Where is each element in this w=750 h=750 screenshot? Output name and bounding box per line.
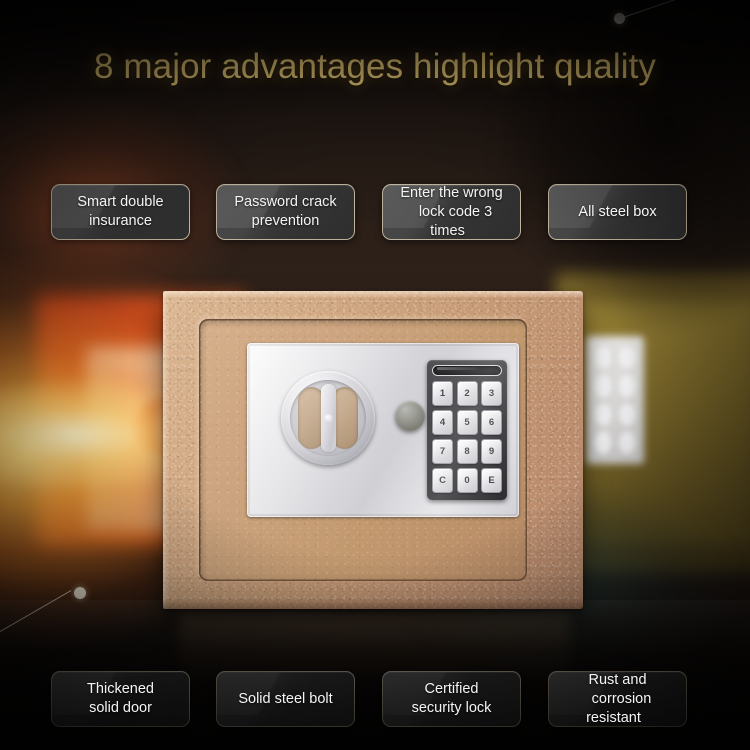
keypad-key-clear[interactable]: C (432, 468, 453, 493)
feature-pill-enter-wrong-lock-code[interactable]: Enter the wrong lock code 3 times (382, 184, 521, 240)
safe-bottom-edge-shade (163, 599, 583, 609)
feature-pill-all-steel-box[interactable]: All steel box (548, 184, 687, 240)
decor-dot-bottom-left (74, 587, 86, 599)
keypad-key-0[interactable]: 0 (457, 468, 478, 493)
safe-faceplate: 1 2 3 4 5 6 7 8 9 C 0 E (247, 343, 519, 517)
keypad-key-1[interactable]: 1 (432, 381, 453, 406)
feature-pill-certified-security-lock[interactable]: Certified security lock (382, 671, 521, 727)
feature-pill-line1: Enter the wrong (392, 185, 510, 201)
keypad-key-4[interactable]: 4 (432, 410, 453, 435)
keypad-panel: 1 2 3 4 5 6 7 8 9 C 0 E (427, 360, 507, 500)
feature-pill-password-crack-prevention[interactable]: Password crack prevention (216, 184, 355, 240)
decor-dot-top-right (614, 13, 625, 24)
safe-product: 1 2 3 4 5 6 7 8 9 C 0 E (163, 291, 583, 609)
keypad-key-enter[interactable]: E (481, 468, 502, 493)
feature-pill-line1: Solid steel bolt (230, 691, 340, 707)
feature-pill-line2: security lock (404, 700, 500, 716)
feature-pill-line1: Rust and (580, 672, 654, 688)
key-lock-center-bar (321, 384, 336, 452)
feature-pill-smart-double-insurance[interactable]: Smart double insurance (51, 184, 190, 240)
safe-door-panel: 1 2 3 4 5 6 7 8 9 C 0 E (199, 319, 527, 581)
turn-knob[interactable] (395, 401, 425, 431)
safe-top-edge-highlight (163, 291, 583, 298)
keypad-key-2[interactable]: 2 (457, 381, 478, 406)
keypad-key-9[interactable]: 9 (481, 439, 502, 464)
product-feature-poster: 8 major advantages highlight quality Sma… (0, 0, 750, 750)
feature-pill-thickened-solid-door[interactable]: Thickened solid door (51, 671, 190, 727)
feature-pill-line1: Thickened (79, 681, 162, 697)
keypad-key-8[interactable]: 8 (457, 439, 478, 464)
feature-pill-line2: prevention (244, 213, 328, 229)
safe-body: 1 2 3 4 5 6 7 8 9 C 0 E (163, 291, 583, 609)
feature-pill-line1: Password crack (226, 194, 344, 210)
feature-pill-rust-corrosion-resistant[interactable]: Rust and corrosion resistant (548, 671, 687, 727)
keypad-key-3[interactable]: 3 (481, 381, 502, 406)
feature-pill-line1: Smart double (69, 194, 171, 210)
page-title: 8 major advantages highlight quality (0, 47, 750, 87)
key-lock-icon[interactable] (281, 371, 375, 465)
feature-pill-line2: solid door (81, 700, 160, 716)
keypad-key-7[interactable]: 7 (432, 439, 453, 464)
feature-pill-solid-steel-bolt[interactable]: Solid steel bolt (216, 671, 355, 727)
feature-pill-line2: corrosion resistant (584, 691, 652, 726)
feature-pill-line1: All steel box (570, 204, 664, 220)
feature-pill-line2: insurance (81, 213, 160, 229)
feature-pill-line2: lock code 3 times (411, 204, 492, 239)
led-display (432, 365, 502, 376)
keypad-keys-grid: 1 2 3 4 5 6 7 8 9 C 0 E (432, 381, 502, 493)
safe-left-edge-highlight (163, 291, 169, 609)
keypad-key-5[interactable]: 5 (457, 410, 478, 435)
keypad-key-6[interactable]: 6 (481, 410, 502, 435)
feature-pill-line1: Certified (417, 681, 487, 697)
key-lock-inner (290, 380, 366, 456)
